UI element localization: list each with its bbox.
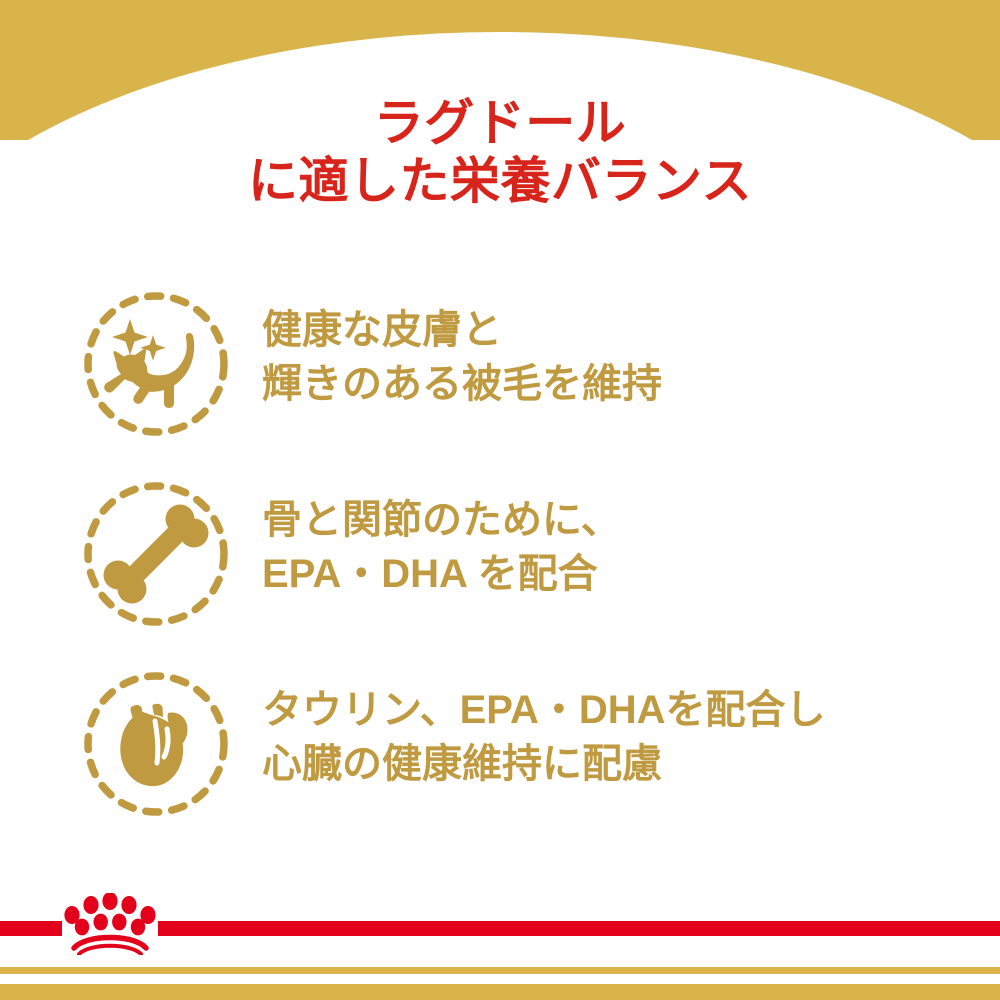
benefit-text-line-1: タウリン、EPA・DHAを配合し [262, 683, 826, 737]
title-line-2: に適した栄養バランス [0, 152, 1000, 210]
benefit-item-skin-coat: 健康な皮膚と 輝きのある被毛を維持 [0, 285, 1000, 475]
benefit-text-line-2: EPA・DHA を配合 [262, 547, 621, 601]
cat-sparkle-icon [83, 291, 229, 437]
title-line-1: ラグドール [0, 94, 1000, 152]
benefit-text-line-1: 骨と関節のために、 [262, 493, 621, 547]
footer-gold-rule-thick [0, 984, 1000, 1000]
benefit-text-line-1: 健康な皮膚と [262, 303, 662, 357]
bone-icon [83, 481, 229, 627]
page-title: ラグドール に適した栄養バランス [0, 94, 1000, 210]
product-info-panel: ラグドール に適した栄養バランス [0, 0, 1000, 1000]
benefit-text-skin-coat: 健康な皮膚と 輝きのある被毛を維持 [262, 303, 662, 411]
benefit-text-line-2: 輝きのある被毛を維持 [262, 357, 662, 411]
benefit-item-heart-health: タウリン、EPA・DHAを配合し 心臓の健康維持に配慮 [0, 665, 1000, 855]
benefit-text-bones-joints: 骨と関節のために、 EPA・DHA を配合 [262, 493, 621, 601]
benefit-item-bones-joints: 骨と関節のために、 EPA・DHA を配合 [0, 475, 1000, 665]
heart-icon [83, 671, 229, 817]
benefit-list: 健康な皮膚と 輝きのある被毛を維持 [0, 285, 1000, 855]
footer-gold-rule-thin [0, 967, 1000, 974]
benefit-text-heart-health: タウリン、EPA・DHAを配合し 心臓の健康維持に配慮 [262, 683, 826, 791]
benefit-text-line-2: 心臓の健康維持に配慮 [262, 737, 826, 791]
royal-canin-crown-logo [62, 893, 158, 955]
